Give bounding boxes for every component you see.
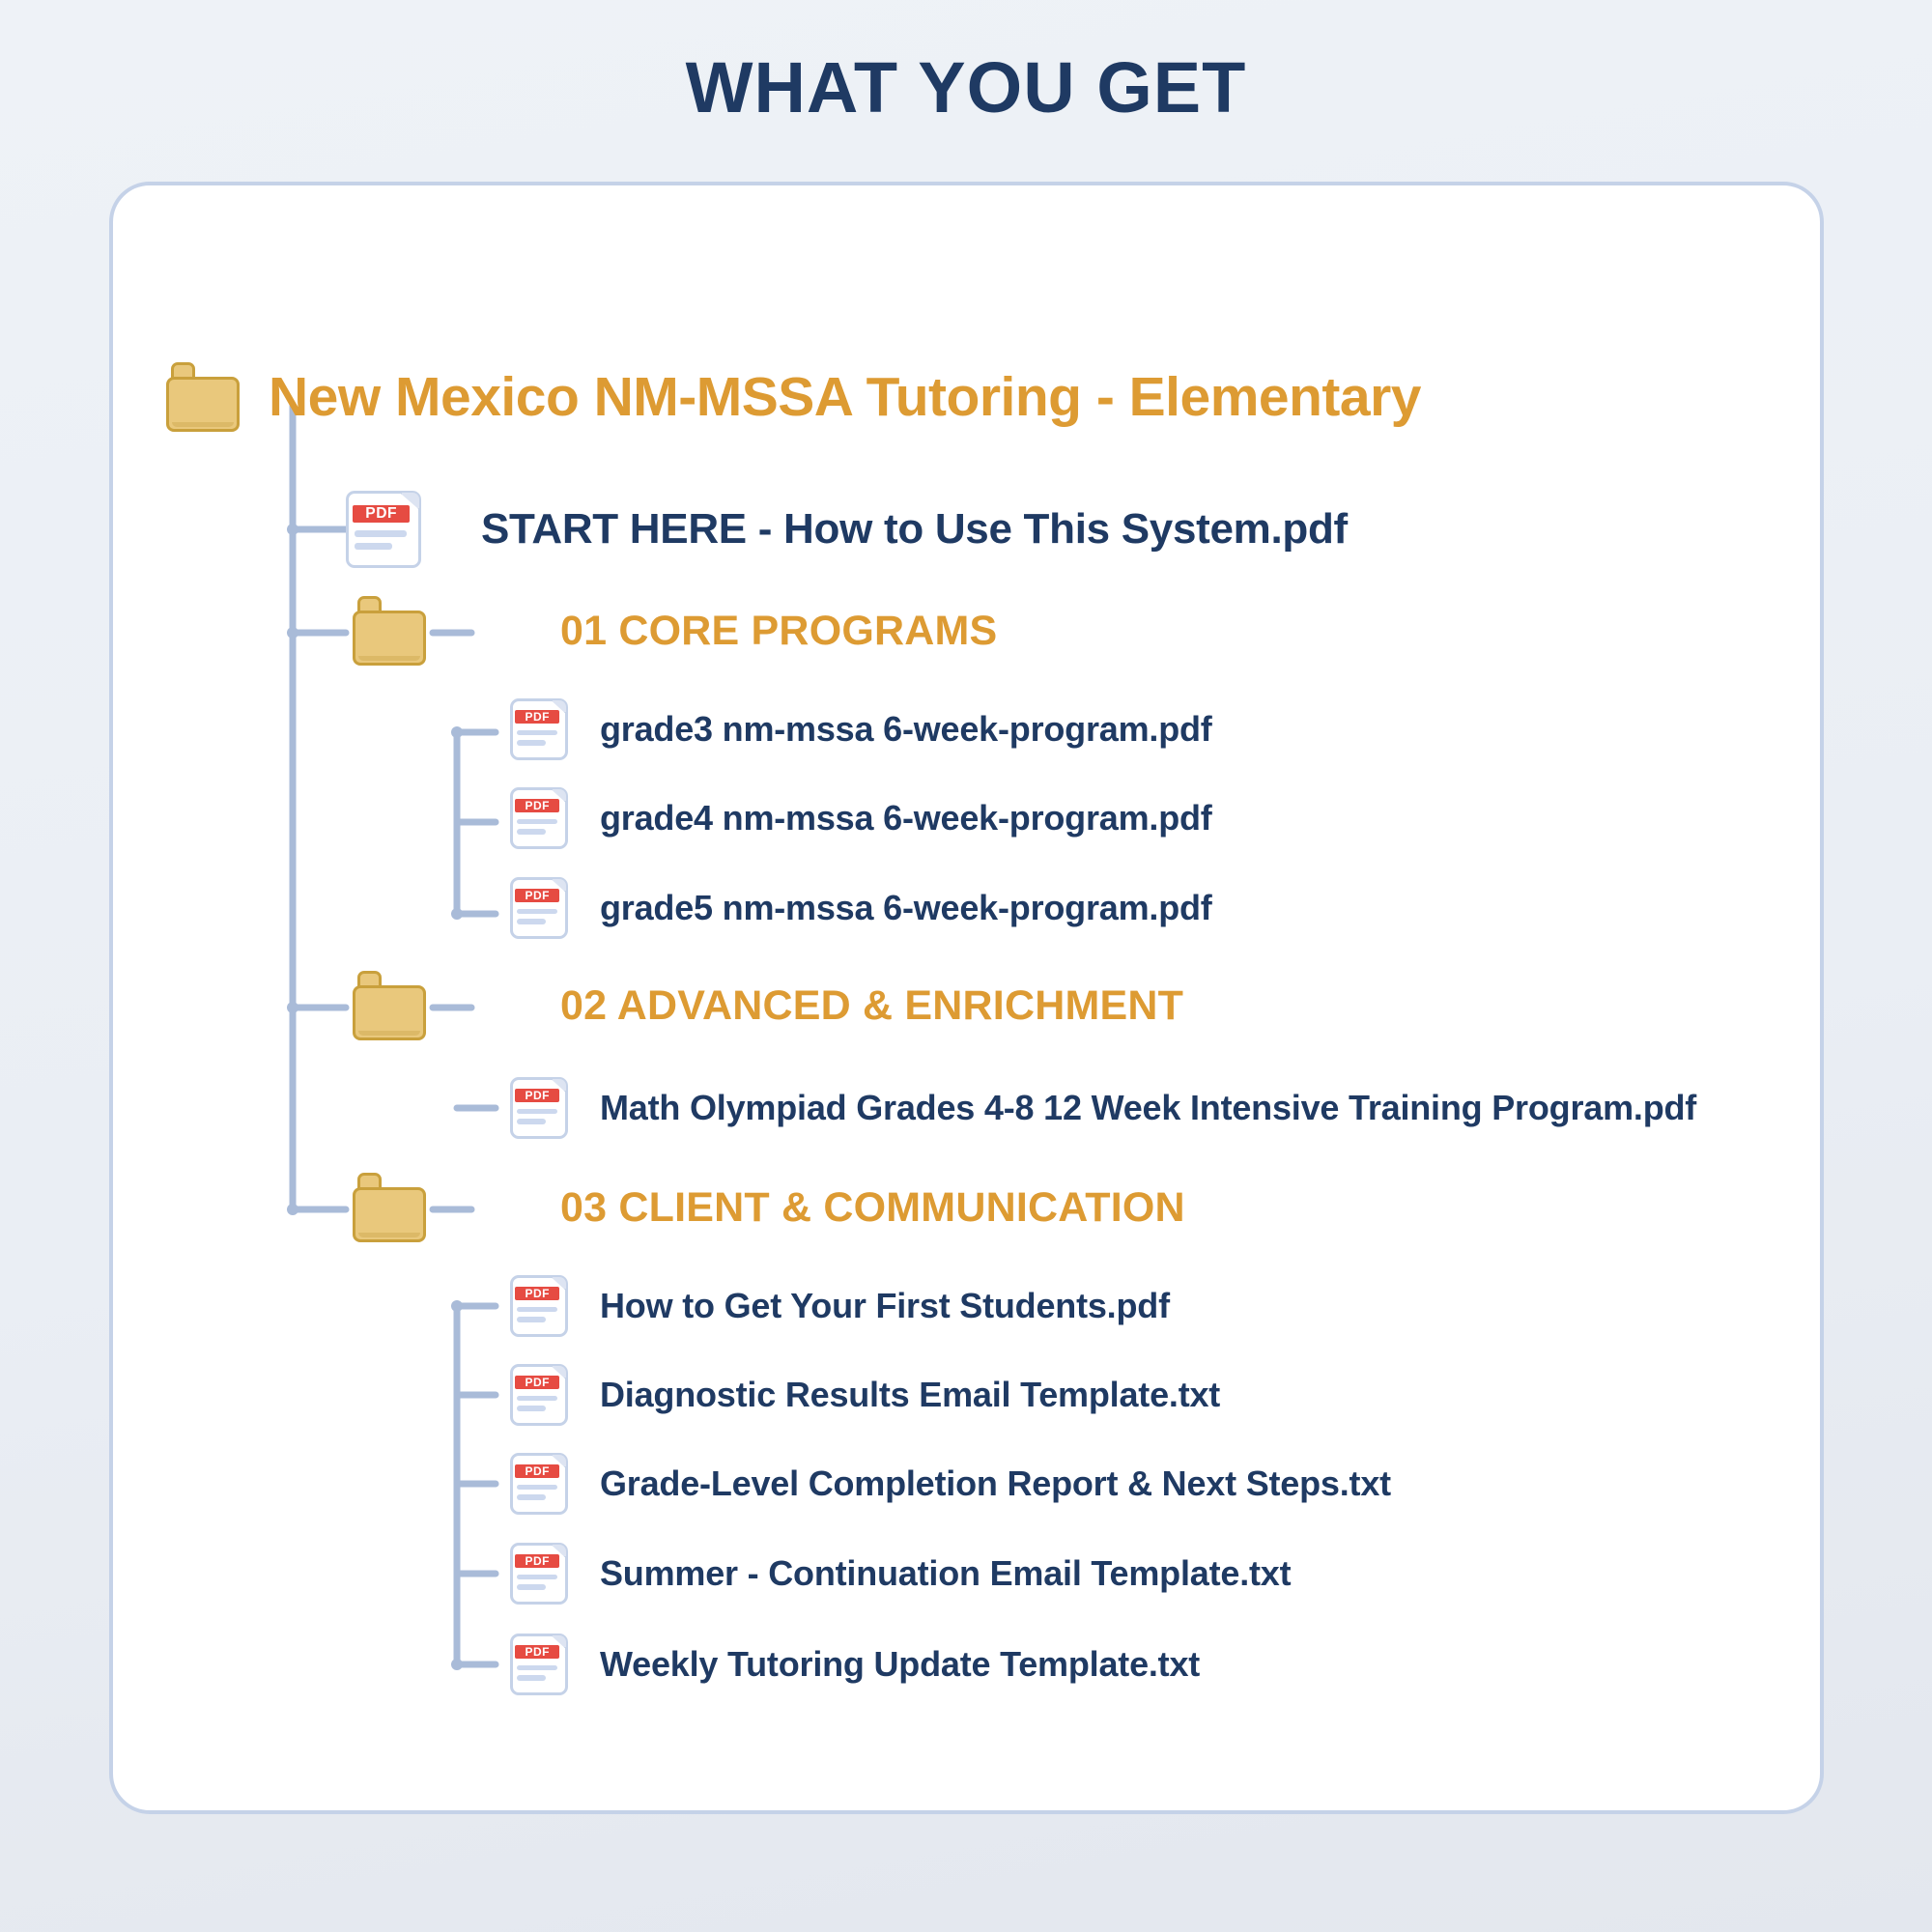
pdf-badge-label: PDF [525, 1090, 550, 1101]
tree-label-file: grade5 nm-mssa 6-week-program.pdf [600, 891, 1212, 925]
pdf-badge-label: PDF [525, 711, 550, 723]
tree-label-file: grade4 nm-mssa 6-week-program.pdf [600, 801, 1212, 836]
tree-row-file-summer-continuation[interactable]: PDF Summer - Continuation Email Template… [510, 1543, 1291, 1605]
tree-row-file-grade-level-completion[interactable]: PDF Grade-Level Completion Report & Next… [510, 1453, 1391, 1515]
tree-row-file-grade3[interactable]: PDF grade3 nm-mssa 6-week-program.pdf [510, 698, 1212, 760]
tree-row-start-here[interactable]: PDF START HERE - How to Use This System.… [346, 491, 1348, 568]
pdf-icon: PDF [510, 787, 568, 849]
pdf-badge-label: PDF [525, 800, 550, 811]
tree-label-file: Weekly Tutoring Update Template.txt [600, 1647, 1200, 1682]
pdf-badge-label: PDF [525, 1288, 550, 1299]
folder-icon [353, 596, 426, 666]
page-title: WHAT YOU GET [0, 0, 1932, 128]
tree-row-file-math-olympiad[interactable]: PDF Math Olympiad Grades 4-8 12 Week Int… [510, 1077, 1696, 1139]
tree-row-root[interactable]: New Mexico NM-MSSA Tutoring - Elementary [166, 362, 1421, 432]
tree-label-file: START HERE - How to Use This System.pdf [481, 508, 1348, 551]
pdf-icon: PDF [510, 1543, 568, 1605]
pdf-badge-label: PDF [525, 1465, 550, 1477]
pdf-badge-label: PDF [525, 1646, 550, 1658]
tree-row-folder-01[interactable]: 01 CORE PROGRAMS [353, 596, 997, 666]
tree-label-root: New Mexico NM-MSSA Tutoring - Elementary [269, 370, 1421, 425]
pdf-icon: PDF [346, 491, 421, 568]
tree-row-file-first-students[interactable]: PDF How to Get Your First Students.pdf [510, 1275, 1170, 1337]
tree-row-file-grade5[interactable]: PDF grade5 nm-mssa 6-week-program.pdf [510, 877, 1212, 939]
pdf-badge-label: PDF [365, 506, 397, 522]
pdf-icon: PDF [510, 1453, 568, 1515]
tree-label-folder: 03 CLIENT & COMMUNICATION [560, 1187, 1185, 1229]
pdf-badge-label: PDF [525, 1377, 550, 1388]
tree-label-file: Grade-Level Completion Report & Next Ste… [600, 1466, 1391, 1501]
pdf-icon: PDF [510, 877, 568, 939]
pdf-badge-label: PDF [525, 890, 550, 901]
pdf-icon: PDF [510, 698, 568, 760]
tree-label-file: Diagnostic Results Email Template.txt [600, 1378, 1220, 1412]
tree-label-file: Math Olympiad Grades 4-8 12 Week Intensi… [600, 1091, 1696, 1125]
tree-label-file: grade3 nm-mssa 6-week-program.pdf [600, 712, 1212, 747]
folder-icon [166, 362, 240, 432]
pdf-icon: PDF [510, 1364, 568, 1426]
tree-label-folder: 02 ADVANCED & ENRICHMENT [560, 985, 1183, 1027]
folder-icon [353, 1173, 426, 1242]
tree-label-folder: 01 CORE PROGRAMS [560, 611, 997, 652]
tree-row-folder-02[interactable]: 02 ADVANCED & ENRICHMENT [353, 971, 1183, 1040]
tree-row-file-diagnostic-results[interactable]: PDF Diagnostic Results Email Template.tx… [510, 1364, 1220, 1426]
pdf-icon: PDF [510, 1275, 568, 1337]
tree-label-file: Summer - Continuation Email Template.txt [600, 1556, 1291, 1591]
tree-label-file: How to Get Your First Students.pdf [600, 1289, 1170, 1323]
pdf-badge-label: PDF [525, 1555, 550, 1567]
pdf-icon: PDF [510, 1077, 568, 1139]
tree-row-folder-03[interactable]: 03 CLIENT & COMMUNICATION [353, 1173, 1185, 1242]
tree-row-file-weekly-update[interactable]: PDF Weekly Tutoring Update Template.txt [510, 1634, 1200, 1695]
pdf-icon: PDF [510, 1634, 568, 1695]
folder-icon [353, 971, 426, 1040]
tree-row-file-grade4[interactable]: PDF grade4 nm-mssa 6-week-program.pdf [510, 787, 1212, 849]
